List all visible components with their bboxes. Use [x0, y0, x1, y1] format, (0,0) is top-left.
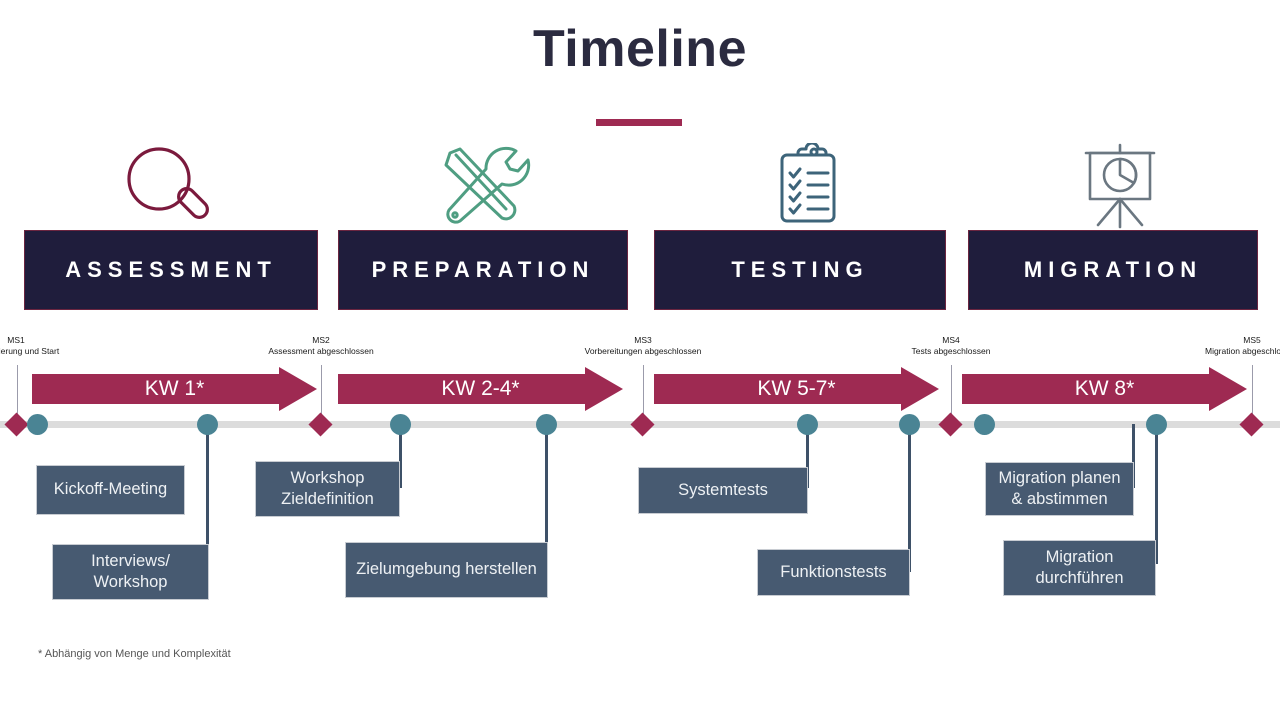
duration-label: KW 5-7*: [654, 367, 939, 411]
task-label: Migration planen & abstimmen: [992, 468, 1127, 510]
task-marker-migration-planen[interactable]: [974, 414, 995, 435]
milestone-id: MS5: [1192, 335, 1280, 346]
milestone-id: MS2: [261, 335, 381, 346]
task-marker-workshop-ziel[interactable]: [390, 414, 411, 435]
milestone-ms1: MS1 Initialisierung und Start: [0, 335, 76, 358]
task-label: Workshop Zieldefinition: [262, 468, 393, 510]
task-box-migration-planen[interactable]: Migration planen & abstimmen: [985, 462, 1134, 516]
phase-label: MIGRATION: [1024, 257, 1202, 283]
milestone-ms3: MS3 Vorbereitungen abgeschlossen: [583, 335, 703, 358]
footnote: * Abhängig von Menge und Komplexität: [38, 648, 231, 660]
phase-header-testing[interactable]: TESTING: [654, 230, 946, 310]
task-label: Funktionstests: [780, 562, 886, 583]
duration-arrow-kw5-7: KW 5-7*: [654, 367, 939, 411]
phase-label: ASSESSMENT: [65, 257, 277, 283]
magnifier-icon: [107, 140, 227, 232]
milestone-marker-ms2[interactable]: [308, 412, 332, 436]
phase-label: PREPARATION: [372, 257, 595, 283]
milestone-text: Migration abgeschlossen: [1192, 346, 1280, 357]
milestone-text: Tests abgeschlossen: [891, 346, 1011, 357]
milestone-id: MS3: [583, 335, 703, 346]
task-marker-kickoff[interactable]: [27, 414, 48, 435]
task-label: Systemtests: [678, 480, 768, 501]
task-box-systemtests[interactable]: Systemtests: [638, 467, 808, 514]
tools-icon: [424, 140, 544, 232]
milestone-ms2: MS2 Assessment abgeschlossen: [261, 335, 381, 358]
milestone-text: Assessment abgeschlossen: [261, 346, 381, 357]
task-box-kickoff-meeting[interactable]: Kickoff-Meeting: [36, 465, 185, 515]
phase-header-preparation[interactable]: PREPARATION: [338, 230, 628, 310]
timeline-slide: Timeline: [0, 0, 1280, 720]
milestone-marker-ms3[interactable]: [630, 412, 654, 436]
task-box-workshop-zieldefinition[interactable]: Workshop Zieldefinition: [255, 461, 400, 517]
duration-label: KW 8*: [962, 367, 1247, 411]
task-marker-systemtests[interactable]: [797, 414, 818, 435]
duration-arrow-kw1: KW 1*: [32, 367, 317, 411]
milestone-id: MS1: [0, 335, 76, 346]
task-label: Migration durchführen: [1010, 547, 1149, 589]
task-label: Interviews/ Workshop: [59, 551, 202, 593]
milestone-marker-ms4[interactable]: [938, 412, 962, 436]
page-title: Timeline: [0, 22, 1280, 77]
duration-label: KW 1*: [32, 367, 317, 411]
duration-label: KW 2-4*: [338, 367, 623, 411]
presentation-chart-icon: [1060, 140, 1180, 232]
task-box-zielumgebung-herstellen[interactable]: Zielumgebung herstellen: [345, 542, 548, 598]
task-label: Kickoff-Meeting: [54, 479, 167, 500]
task-marker-migration-durchfuehren[interactable]: [1146, 414, 1167, 435]
duration-arrow-kw2-4: KW 2-4*: [338, 367, 623, 411]
duration-arrow-kw8: KW 8*: [962, 367, 1247, 411]
task-marker-funktionstests[interactable]: [899, 414, 920, 435]
milestone-text: Initialisierung und Start: [0, 346, 76, 357]
milestone-id: MS4: [891, 335, 1011, 346]
milestone-ms4: MS4 Tests abgeschlossen: [891, 335, 1011, 358]
phase-header-migration[interactable]: MIGRATION: [968, 230, 1258, 310]
phase-label: TESTING: [731, 257, 868, 283]
phase-header-assessment[interactable]: ASSESSMENT: [24, 230, 318, 310]
task-label: Zielumgebung herstellen: [356, 559, 537, 580]
clipboard-check-icon: [748, 140, 868, 232]
task-marker-zielumgebung[interactable]: [536, 414, 557, 435]
task-marker-interviews[interactable]: [197, 414, 218, 435]
milestone-text: Vorbereitungen abgeschlossen: [583, 346, 703, 357]
task-box-migration-durchfuehren[interactable]: Migration durchführen: [1003, 540, 1156, 596]
milestone-marker-ms5[interactable]: [1239, 412, 1263, 436]
milestone-marker-ms1[interactable]: [4, 412, 28, 436]
milestone-ms5: MS5 Migration abgeschlossen: [1192, 335, 1280, 358]
task-box-interviews-workshop[interactable]: Interviews/ Workshop: [52, 544, 209, 600]
task-box-funktionstests[interactable]: Funktionstests: [757, 549, 910, 596]
title-accent-rule: [596, 119, 682, 126]
